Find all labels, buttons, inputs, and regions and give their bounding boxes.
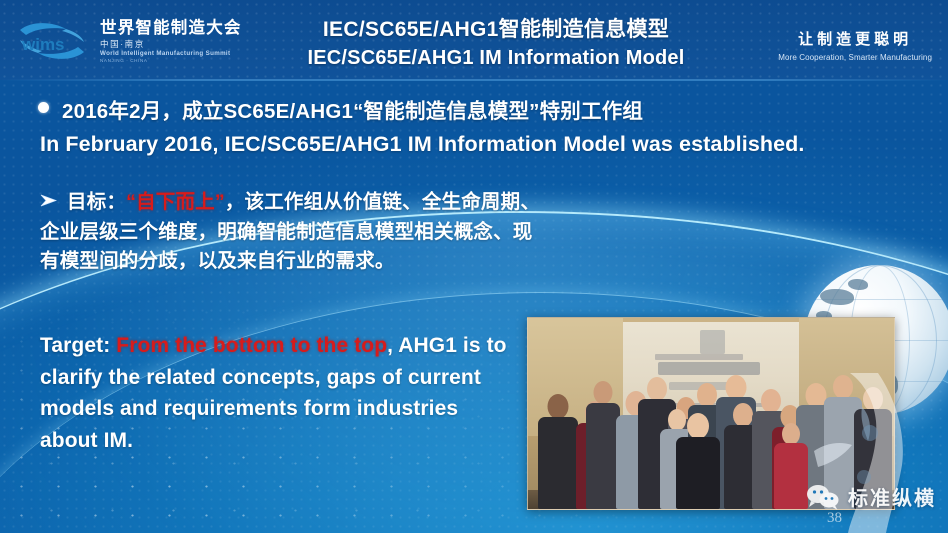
page-title-cn: IEC/SC65E/AHG1智能制造信息模型 bbox=[236, 18, 756, 43]
arrow-bullet-icon bbox=[40, 194, 58, 207]
photo-person-torso bbox=[676, 437, 720, 509]
wims-logo-icon: wims bbox=[14, 16, 92, 66]
target-paragraph-cn: 目标：“自下而上”，该工作组从价值链、全生命周期、企业层级三个维度，明确智能制造… bbox=[40, 188, 540, 277]
photo-person-head bbox=[863, 387, 883, 411]
page-title-en: IEC/SC65E/AHG1 IM Information Model bbox=[236, 46, 756, 71]
target-en-label: Target: bbox=[40, 334, 110, 357]
photo-person-head bbox=[833, 375, 853, 399]
photo-person bbox=[774, 423, 808, 509]
logo-cn-title: 世界智能制造大会 bbox=[100, 20, 242, 37]
svg-text:wims: wims bbox=[21, 35, 65, 54]
photo-person-head bbox=[548, 394, 569, 419]
slide-header: wims 世界智能制造大会 中国·南京 World Intelligent Ma… bbox=[0, 0, 948, 80]
photo-person-head bbox=[733, 403, 753, 427]
bullet-dot-icon bbox=[38, 102, 49, 113]
summit-logo-text: 世界智能制造大会 中国·南京 World Intelligent Manufac… bbox=[100, 18, 242, 64]
globe-landmass bbox=[848, 279, 868, 290]
photo-screen-title bbox=[658, 362, 760, 375]
slide-body: 2016年2月，成立SC65E/AHG1“智能制造信息模型”特别工作组 In F… bbox=[0, 80, 948, 533]
photo-person-torso bbox=[774, 443, 808, 509]
bullet-1-en-text: In February 2016, IEC/SC65E/AHG1 IM Info… bbox=[40, 132, 804, 157]
target-paragraph-en: Target: From the bottom to the top, AHG1… bbox=[40, 330, 520, 456]
photo-person bbox=[538, 394, 578, 509]
summit-tagline: 让制造更聪明 More Cooperation, Smarter Manufac… bbox=[778, 28, 932, 62]
photo-person-torso bbox=[586, 403, 620, 509]
watermark-text: 标准纵横 bbox=[848, 482, 936, 511]
wechat-icon bbox=[806, 483, 840, 511]
photo-screen-logo bbox=[700, 330, 725, 354]
tagline-en: More Cooperation, Smarter Manufacturing bbox=[778, 53, 932, 62]
logo-en-subtitle: NANJING · CHINA bbox=[100, 59, 242, 64]
photo-person-head bbox=[594, 381, 613, 404]
photo-person-head bbox=[782, 423, 800, 445]
slide-root: wims 世界智能制造大会 中国·南京 World Intelligent Ma… bbox=[0, 0, 948, 533]
photo-person-head bbox=[647, 377, 667, 401]
logo-en-title: World Intelligent Manufacturing Summit bbox=[100, 51, 242, 57]
page-title: IEC/SC65E/AHG1智能制造信息模型 IEC/SC65E/AHG1 IM… bbox=[236, 18, 756, 71]
bullet-item-1: 2016年2月，成立SC65E/AHG1“智能制造信息模型”特别工作组 bbox=[38, 94, 643, 124]
summit-logo: wims 世界智能制造大会 中国·南京 World Intelligent Ma… bbox=[14, 16, 242, 66]
target-cn-label: 目标： bbox=[67, 191, 126, 213]
globe-landmass bbox=[820, 289, 854, 305]
photo-person-head bbox=[697, 383, 717, 407]
photo-person-head bbox=[687, 413, 709, 439]
logo-cn-subtitle: 中国·南京 bbox=[100, 40, 242, 49]
photo-screen-line bbox=[655, 354, 743, 360]
tagline-cn: 让制造更聪明 bbox=[778, 28, 932, 49]
photo-person bbox=[676, 413, 720, 509]
wechat-watermark: 标准纵横 bbox=[806, 482, 936, 511]
target-en-highlight: From the bottom to the top bbox=[116, 334, 387, 357]
photo-person-torso bbox=[538, 417, 578, 509]
page-number: 38 bbox=[827, 510, 842, 527]
bullet-1-cn-text: 2016年2月，成立SC65E/AHG1“智能制造信息模型”特别工作组 bbox=[62, 94, 643, 124]
photo-person bbox=[586, 381, 620, 509]
target-cn-highlight: “自下而上” bbox=[126, 191, 225, 213]
